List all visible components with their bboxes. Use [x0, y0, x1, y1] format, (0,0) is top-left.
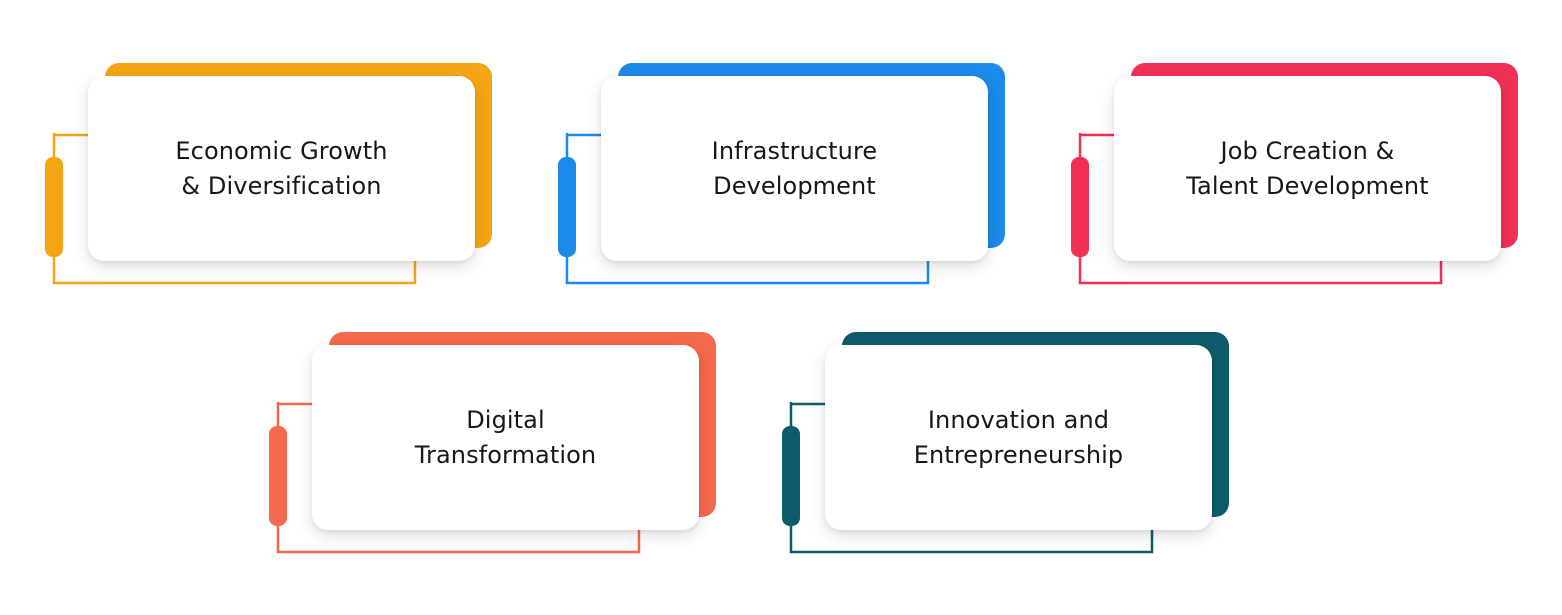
node-card[interactable]: Infrastructure Development	[601, 76, 988, 261]
node-card[interactable]: Digital Transformation	[312, 345, 699, 530]
connector-bar	[1071, 157, 1089, 257]
connector-bar	[269, 426, 287, 526]
node-label: Economic Growth & Diversification	[157, 134, 405, 204]
diagram-canvas: Economic Growth & DiversificationInfrast…	[0, 0, 1562, 615]
node-card[interactable]: Innovation and Entrepreneurship	[825, 345, 1212, 530]
connector-bar	[782, 426, 800, 526]
node-innovation-entrepreneurship[interactable]: Innovation and Entrepreneurship	[777, 324, 1247, 564]
node-label: Innovation and Entrepreneurship	[896, 403, 1142, 473]
node-label: Digital Transformation	[397, 403, 614, 473]
node-label: Infrastructure Development	[694, 134, 896, 204]
node-job-creation[interactable]: Job Creation & Talent Development	[1066, 55, 1536, 295]
node-card[interactable]: Economic Growth & Diversification	[88, 76, 475, 261]
connector-bar	[558, 157, 576, 257]
node-infrastructure-development[interactable]: Infrastructure Development	[553, 55, 1023, 295]
node-card[interactable]: Job Creation & Talent Development	[1114, 76, 1501, 261]
node-digital-transformation[interactable]: Digital Transformation	[264, 324, 734, 564]
connector-bar	[45, 157, 63, 257]
node-economic-growth[interactable]: Economic Growth & Diversification	[40, 55, 510, 295]
node-label: Job Creation & Talent Development	[1168, 134, 1446, 204]
